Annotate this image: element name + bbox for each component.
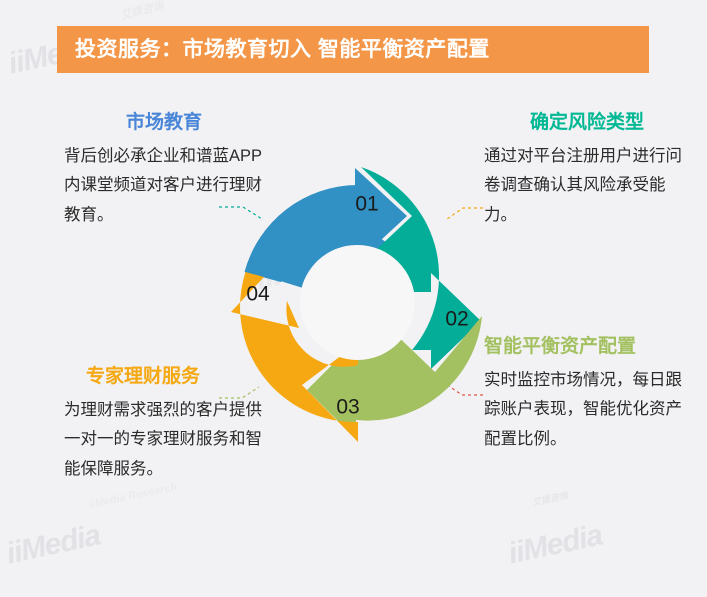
block-body-smart-allocation: 实时监控市场情况，每日跟踪账户表现，智能优化资产配置比例。	[484, 366, 694, 454]
page-title-bar: 投资服务：市场教育切入 智能平衡资产配置	[57, 26, 649, 73]
block-body-expert-service: 为理财需求强烈的客户提供一对一的专家理财服务和智能保障服务。	[64, 396, 264, 484]
infographic-stage: iiMedia 艾媒咨询 iiMedia iiMedia 艾媒咨询 iiMedi…	[0, 0, 707, 597]
block-heading-risk-type: 确定风险类型	[484, 112, 690, 135]
block-expert-service: 专家理财服务 为理财需求强烈的客户提供一对一的专家理财服务和智能保障服务。	[64, 366, 264, 484]
block-body-risk-type: 通过对平台注册用户进行问卷调查确认其风险承受能力。	[484, 142, 690, 230]
cycle-label-01: 01	[355, 193, 378, 216]
block-smart-allocation: 智能平衡资产配置 实时监控市场情况，每日跟踪账户表现，智能优化资产配置比例。	[484, 336, 694, 454]
page-title: 投资服务：市场教育切入 智能平衡资产配置	[75, 39, 490, 60]
cycle-label-02: 02	[445, 308, 468, 331]
block-heading-smart-allocation: 智能平衡资产配置	[484, 336, 694, 359]
cycle-label-04: 04	[246, 283, 270, 306]
block-heading-market-education: 市场教育	[64, 112, 264, 135]
watermark-text-bottom-right: 艾媒咨询	[531, 488, 569, 508]
block-market-education: 市场教育 背后创必承企业和谱蓝APP内课堂频道对客户进行理财教育。	[64, 112, 264, 230]
block-body-market-education: 背后创必承企业和谱蓝APP内课堂频道对客户进行理财教育。	[64, 142, 264, 230]
cycle-label-03: 03	[336, 396, 359, 419]
cycle-center-hole	[300, 245, 415, 360]
watermark-logo-bottom-right: iiMedia	[506, 519, 606, 572]
watermark-text-top-center: 艾媒咨询	[119, 0, 166, 23]
watermark-text-bottom-left: iiMedia Research	[88, 481, 178, 511]
watermark-logo-bottom-left: iiMedia	[4, 519, 104, 572]
block-risk-type: 确定风险类型 通过对平台注册用户进行问卷调查确认其风险承受能力。	[484, 112, 690, 230]
block-heading-expert-service: 专家理财服务	[64, 366, 264, 389]
